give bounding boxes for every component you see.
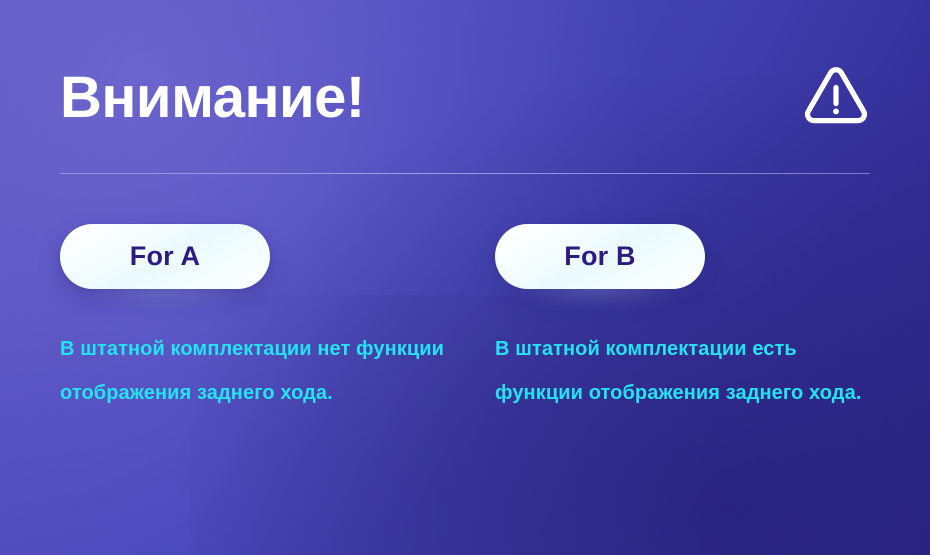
slide-content: Внимание! For A В штатной комплектации н…: [0, 0, 930, 555]
for-b-description: В штатной комплектации есть функции отоб…: [495, 327, 887, 415]
for-a-description: В штатной комплектации нет функции отобр…: [60, 327, 452, 415]
slide: Внимание! For A В штатной комплектации н…: [0, 0, 930, 555]
column-for-a: For A В штатной комплектации нет функции…: [60, 224, 460, 289]
for-a-button[interactable]: For A: [60, 224, 270, 289]
header: Внимание!: [60, 52, 872, 144]
page-title: Внимание!: [60, 52, 872, 144]
for-b-button[interactable]: For B: [495, 224, 705, 289]
warning-triangle-icon: [800, 62, 872, 134]
header-divider: [60, 173, 870, 174]
pill-wrapper-a: For A: [60, 224, 270, 289]
column-for-b: For B В штатной комплектации есть функци…: [495, 224, 895, 289]
pill-wrapper-b: For B: [495, 224, 705, 289]
